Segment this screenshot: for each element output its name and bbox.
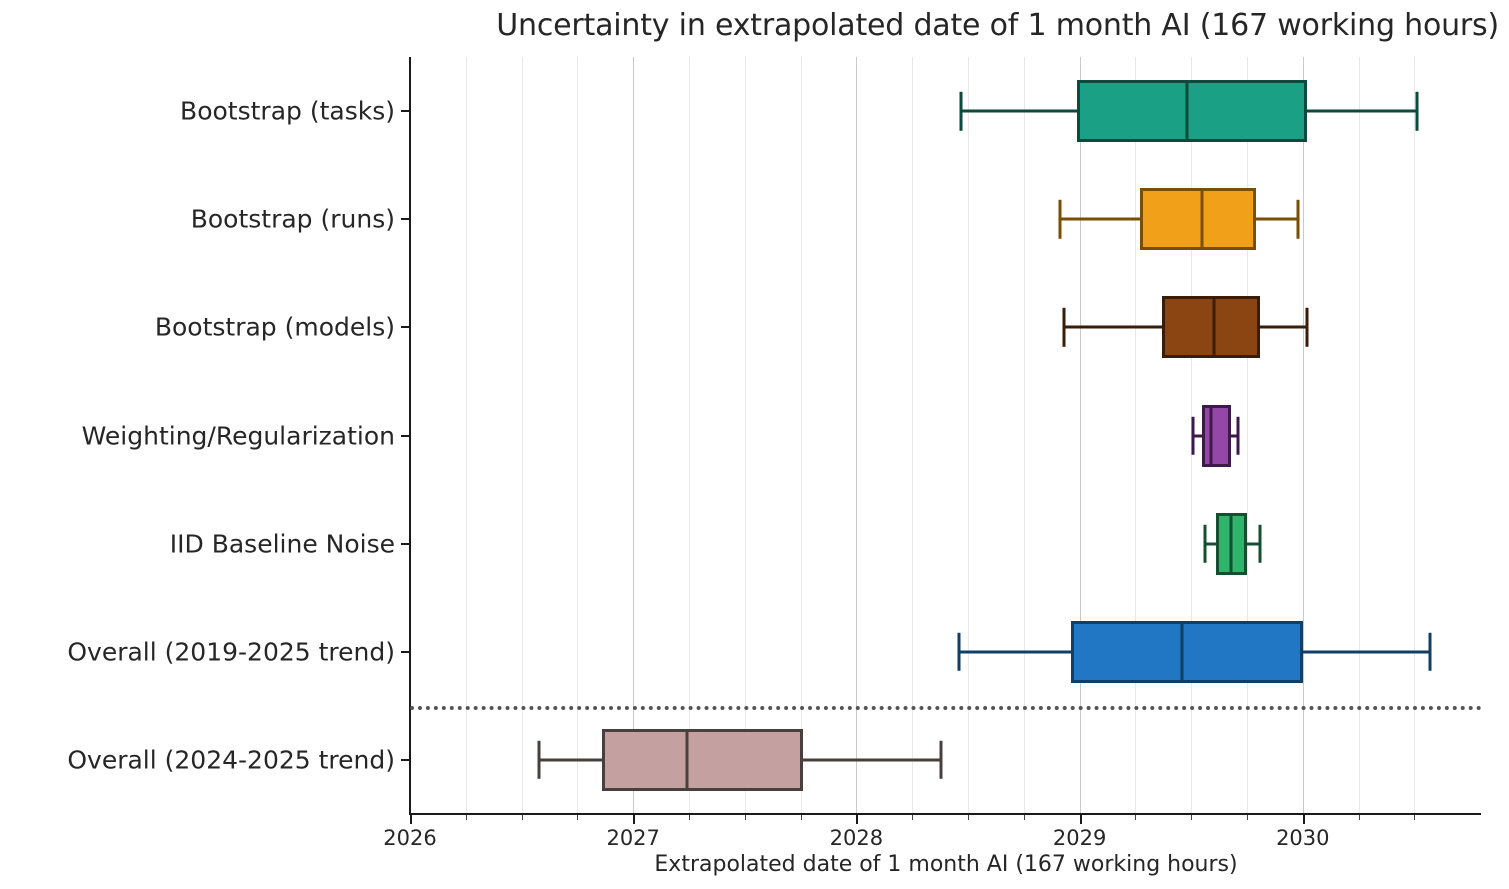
- y-tick-label: Weighting/Regularization: [0, 421, 395, 450]
- gridline-major: [1303, 57, 1304, 814]
- x-tick-major: [633, 815, 635, 824]
- box-cap-high: [1415, 92, 1418, 130]
- x-tick-label: 2027: [606, 826, 659, 850]
- y-tick-mark: [401, 543, 410, 545]
- y-tick-mark: [401, 110, 410, 112]
- box-whisker-high: [1256, 218, 1298, 221]
- y-axis-tick-labels: Bootstrap (tasks)Bootstrap (runs)Bootstr…: [0, 0, 395, 889]
- gridline-minor: [577, 57, 578, 814]
- y-tick-label: IID Baseline Noise: [0, 529, 395, 558]
- gridline-minor: [689, 57, 690, 814]
- gridline-major: [633, 57, 634, 814]
- y-tick-label: Overall (2024-2025 trend): [0, 745, 395, 774]
- gridline-minor: [912, 57, 913, 814]
- box-median: [1185, 80, 1188, 142]
- box-median: [1181, 621, 1184, 683]
- x-tick-minor: [466, 815, 467, 820]
- gridline-minor: [1247, 57, 1248, 814]
- x-tick-major: [856, 815, 858, 824]
- box-cap-low: [960, 92, 963, 130]
- box-cap-high: [1259, 524, 1262, 562]
- box-whisker-high: [1260, 326, 1307, 329]
- box-whisker-high: [1303, 650, 1430, 653]
- x-tick-minor: [1414, 815, 1415, 820]
- gridline-minor: [801, 57, 802, 814]
- box-median: [1201, 188, 1204, 250]
- x-tick-minor: [1135, 815, 1136, 820]
- gridline-minor: [1414, 57, 1415, 814]
- box-cap-low: [538, 741, 541, 779]
- x-tick-minor: [522, 815, 523, 820]
- box-whisker-low: [1064, 326, 1162, 329]
- box-cap-high: [1237, 416, 1240, 454]
- box-cap-high: [1297, 200, 1300, 238]
- x-tick-label: 2028: [830, 826, 883, 850]
- box-cap-low: [958, 633, 961, 671]
- y-tick-mark: [401, 759, 410, 761]
- x-tick-minor: [1247, 815, 1248, 820]
- x-axis-spine: [409, 813, 1481, 815]
- x-tick-major: [410, 815, 412, 824]
- x-tick-minor: [912, 815, 913, 820]
- box-iqr: [602, 729, 803, 791]
- gridline-minor: [1359, 57, 1360, 814]
- y-tick-label: Bootstrap (runs): [0, 205, 395, 234]
- x-tick-minor: [745, 815, 746, 820]
- y-tick-mark: [401, 651, 410, 653]
- x-tick-major: [1303, 815, 1305, 824]
- x-tick-minor: [968, 815, 969, 820]
- box-cap-low: [1192, 416, 1195, 454]
- group-separator-line: [410, 706, 1482, 710]
- box-whisker-low: [959, 650, 1071, 653]
- box-iqr: [1140, 188, 1256, 250]
- box-iqr: [1077, 80, 1307, 142]
- x-axis-title: Extrapolated date of 1 month AI (167 wor…: [410, 852, 1482, 877]
- box-whisker-high: [803, 758, 941, 761]
- box-whisker-low: [1060, 218, 1140, 221]
- gridline-major: [1080, 57, 1081, 814]
- box-whisker-low: [539, 758, 601, 761]
- x-tick-minor: [1191, 815, 1192, 820]
- plot-area: [410, 57, 1480, 814]
- x-tick-minor: [689, 815, 690, 820]
- x-tick-label: 2030: [1276, 826, 1329, 850]
- x-tick-minor: [1359, 815, 1360, 820]
- x-tick-minor: [577, 815, 578, 820]
- box-whisker-low: [1205, 542, 1216, 545]
- gridline-minor: [466, 57, 467, 814]
- gridline-minor: [1135, 57, 1136, 814]
- x-tick-label: 2026: [383, 826, 436, 850]
- box-cap-low: [1203, 524, 1206, 562]
- box-cap-high: [1429, 633, 1432, 671]
- box-iqr: [1202, 405, 1231, 467]
- y-tick-label: Bootstrap (tasks): [0, 97, 395, 126]
- box-median: [1210, 405, 1213, 467]
- x-tick-label: 2029: [1053, 826, 1106, 850]
- y-tick-label: Overall (2019-2025 trend): [0, 637, 395, 666]
- y-tick-mark: [401, 218, 410, 220]
- box-median: [685, 729, 688, 791]
- box-median: [1230, 513, 1233, 575]
- boxplot-figure: Uncertainty in extrapolated date of 1 mo…: [0, 0, 1509, 889]
- y-tick-mark: [401, 435, 410, 437]
- x-tick-minor: [1024, 815, 1025, 820]
- x-tick-minor: [801, 815, 802, 820]
- y-tick-label: Bootstrap (models): [0, 313, 395, 342]
- gridline-minor: [522, 57, 523, 814]
- box-cap-high: [1306, 308, 1309, 346]
- box-cap-high: [940, 741, 943, 779]
- gridline-major: [856, 57, 857, 814]
- gridline-minor: [745, 57, 746, 814]
- y-tick-mark: [401, 326, 410, 328]
- box-cap-low: [1062, 308, 1065, 346]
- box-iqr: [1071, 621, 1303, 683]
- x-tick-major: [1080, 815, 1082, 824]
- box-median: [1212, 296, 1215, 358]
- gridline-minor: [1024, 57, 1025, 814]
- box-whisker-high: [1307, 110, 1416, 113]
- box-cap-low: [1058, 200, 1061, 238]
- box-whisker-low: [961, 110, 1077, 113]
- gridline-minor: [968, 57, 969, 814]
